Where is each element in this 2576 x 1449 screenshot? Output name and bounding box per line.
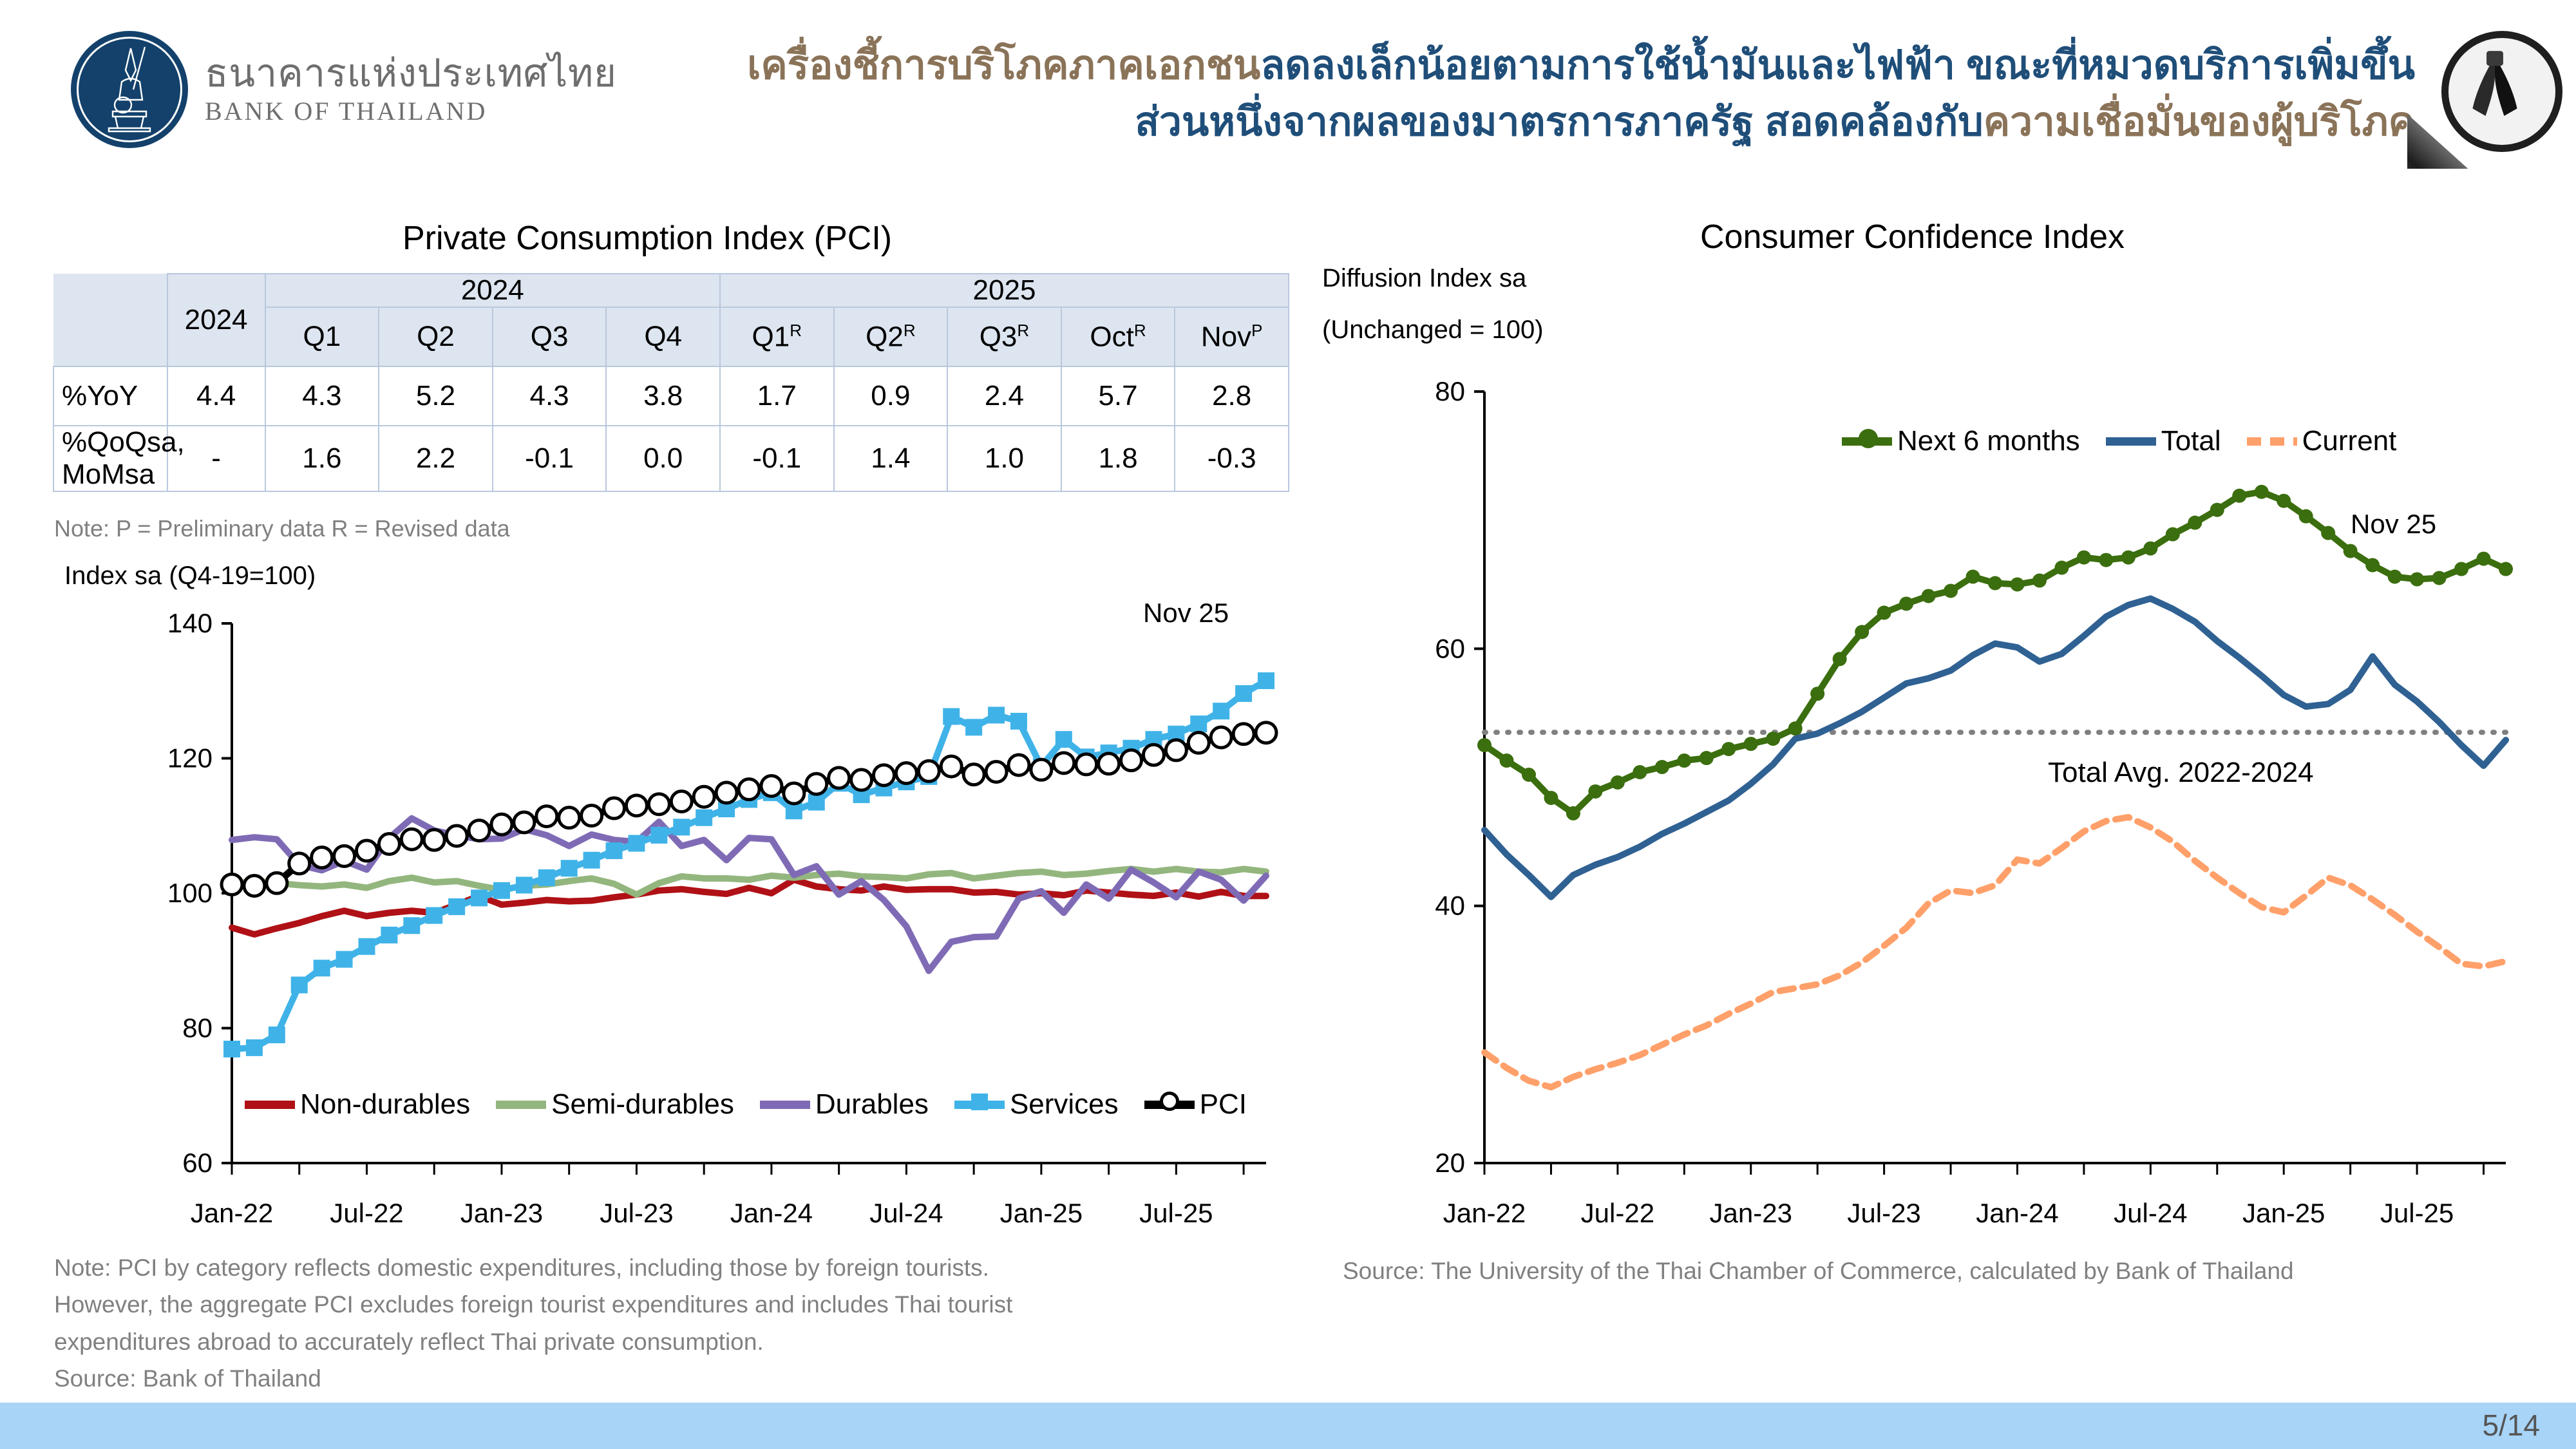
data-point xyxy=(1633,765,1647,779)
data-point xyxy=(2344,544,2358,558)
data-point xyxy=(1944,583,1958,598)
legend-label-durables: Durables xyxy=(815,1088,929,1121)
data-point xyxy=(1143,744,1164,765)
pci-source: Source: Bank of Thailand xyxy=(54,1360,1278,1397)
data-point xyxy=(356,840,377,861)
legend-label-services: Services xyxy=(1010,1088,1119,1121)
data-point xyxy=(986,761,1007,782)
table-row: %QoQsa, MoMsa-1.62.2-0.10.0-0.11.41.01.8… xyxy=(53,426,1289,491)
table-cell: 4.3 xyxy=(265,366,379,426)
data-point xyxy=(1499,753,1513,768)
data-point xyxy=(963,764,984,785)
data-point xyxy=(1788,721,1803,735)
data-point xyxy=(1076,754,1097,775)
data-point xyxy=(806,773,827,794)
data-point xyxy=(808,794,825,811)
legend-label-total: Total xyxy=(2161,425,2221,457)
data-point xyxy=(2321,526,2335,540)
data-point xyxy=(2210,503,2224,517)
series-line-services xyxy=(232,681,1266,1049)
data-point xyxy=(739,779,759,800)
bot-logo: ธนาคารแห่งประเทศไทย BANK OF THAILAND xyxy=(71,31,616,148)
pci-axis-caption: Index sa (Q4-19=100) xyxy=(64,562,316,591)
x-tick-label: Jul-23 xyxy=(1847,1198,1920,1228)
data-point xyxy=(1256,723,1276,743)
data-point xyxy=(1031,759,1052,780)
table-col-annual: 2024 xyxy=(167,274,265,366)
series-line-non-durables xyxy=(232,880,1266,934)
table-subheader-q4: Q4 xyxy=(606,307,720,366)
data-point xyxy=(2143,542,2157,556)
table-subheader-oct-R: OctR xyxy=(1061,307,1175,366)
data-point xyxy=(650,827,667,844)
data-point xyxy=(1190,715,1207,732)
table-row-label: %YoY xyxy=(53,366,167,426)
y-tick-label: 80 xyxy=(1435,376,1465,406)
series-line-next-6-months xyxy=(1484,492,2506,813)
legend-swatch-pci xyxy=(1144,1101,1195,1109)
data-point xyxy=(2099,553,2113,567)
legend-item-non-durables[interactable]: Non-durables xyxy=(245,1088,470,1121)
data-point xyxy=(2121,551,2136,565)
data-point xyxy=(2032,574,2047,588)
pci-panel-title: Private Consumption Index (PCI) xyxy=(402,219,892,258)
data-point xyxy=(267,873,287,893)
legend-label-pci: PCI xyxy=(1200,1088,1247,1121)
data-point xyxy=(1121,750,1142,771)
data-point xyxy=(896,763,916,784)
data-point xyxy=(2188,516,2202,530)
data-point xyxy=(312,847,332,867)
data-point xyxy=(291,976,308,993)
table-subheader-q2: Q2 xyxy=(379,307,493,366)
data-point xyxy=(401,829,422,849)
data-point xyxy=(1700,751,1714,765)
y-tick-label: 60 xyxy=(1435,633,1465,663)
y-tick-label: 120 xyxy=(167,743,213,773)
table-cell: 4.4 xyxy=(167,366,265,426)
pci-legend: Non-durables Semi-durables Durables Serv… xyxy=(245,1088,1273,1121)
data-point xyxy=(516,876,533,893)
data-point xyxy=(1922,589,1936,603)
data-point xyxy=(851,770,872,790)
headline-line1-tan: เครื่องชี้การบริโภคภาคเอกชน xyxy=(747,43,1260,88)
data-point xyxy=(1166,740,1186,761)
legend-swatch-current xyxy=(2247,437,2297,446)
data-point xyxy=(561,860,578,876)
table-subheader-q1-R: Q1R xyxy=(720,307,834,366)
table-cell: 3.8 xyxy=(606,366,720,426)
data-point xyxy=(1522,768,1536,782)
data-point xyxy=(493,882,510,899)
headline-line1-navy: ลดลงเล็กน้อยตามการใช้น้ำมันและไฟฟ้า ขณะท… xyxy=(1260,43,2415,88)
data-point xyxy=(1588,784,1602,799)
data-point xyxy=(2388,570,2402,584)
x-tick-label: Jan-25 xyxy=(1000,1198,1083,1228)
data-point xyxy=(2410,573,2424,587)
table-cell: -0.1 xyxy=(720,426,834,491)
data-point xyxy=(491,814,512,835)
data-point xyxy=(1655,760,1669,774)
pci-note-line-2: However, the aggregate PCI excludes fore… xyxy=(54,1286,1278,1323)
y-tick-label: 20 xyxy=(1435,1148,1465,1178)
data-point xyxy=(671,791,692,812)
data-point xyxy=(1477,738,1492,752)
data-point xyxy=(1544,791,1558,805)
table-cell: 5.2 xyxy=(379,366,493,426)
data-point xyxy=(2277,494,2291,508)
data-point xyxy=(2477,552,2491,566)
data-point xyxy=(1988,576,2002,591)
data-point xyxy=(829,768,849,788)
table-cell: 1.8 xyxy=(1061,426,1175,491)
table-subheader-q2-R: Q2R xyxy=(834,307,948,366)
data-point xyxy=(2255,485,2269,499)
brand-name-thai: ธนาคารแห่งประเทศไทย xyxy=(205,53,616,93)
data-point xyxy=(403,917,420,934)
data-point xyxy=(2299,509,2313,524)
pci-table: 2024 2024 2025 Q1Q2Q3Q4Q1RQ2RQ3ROctRNovP… xyxy=(53,273,1289,492)
data-point xyxy=(2232,489,2246,503)
data-point xyxy=(918,761,939,781)
data-point xyxy=(514,812,535,833)
data-point xyxy=(696,810,712,826)
footer-bar xyxy=(0,1403,2576,1449)
data-point xyxy=(1099,753,1119,774)
data-point xyxy=(379,834,399,855)
data-point xyxy=(1855,625,1869,639)
y-tick-label: 140 xyxy=(167,608,213,638)
data-point xyxy=(1899,596,1913,611)
x-tick-label: Jul-25 xyxy=(1139,1198,1213,1228)
legend-swatch-next-6-months xyxy=(1842,437,1892,446)
data-point xyxy=(1054,753,1074,773)
data-point xyxy=(1258,672,1274,689)
data-point xyxy=(424,829,444,850)
data-point xyxy=(626,795,647,816)
y-tick-label: 100 xyxy=(167,878,213,908)
data-point xyxy=(244,875,265,896)
table-subheader-nov-P: NovP xyxy=(1175,307,1289,366)
data-point xyxy=(1213,703,1229,719)
data-point xyxy=(2432,571,2447,585)
data-point xyxy=(582,806,602,826)
x-tick-label: Jul-23 xyxy=(600,1198,673,1228)
mourning-ribbon-icon xyxy=(2407,0,2576,169)
legend-item-semi-durables[interactable]: Semi-durables xyxy=(496,1088,734,1121)
x-tick-label: Jul-25 xyxy=(2380,1198,2454,1228)
data-point xyxy=(314,960,330,976)
pci-note-line-1: Note: PCI by category reflects domestic … xyxy=(54,1249,1278,1286)
data-point xyxy=(246,1039,263,1056)
x-tick-label: Jan-24 xyxy=(730,1198,813,1228)
legend-label-semi-durables: Semi-durables xyxy=(551,1088,734,1121)
data-point xyxy=(2010,578,2024,592)
series-line-total xyxy=(1484,598,2506,896)
table-group-2024: 2024 xyxy=(265,274,720,307)
data-point xyxy=(649,794,669,815)
legend-swatch-total xyxy=(2106,437,2156,446)
table-cell: 0.9 xyxy=(834,366,948,426)
data-point xyxy=(761,775,782,796)
x-tick-label: Jul-24 xyxy=(2114,1198,2187,1228)
legend-label-next-6-months: Next 6 months xyxy=(1897,425,2080,457)
data-point xyxy=(269,1027,285,1043)
y-tick-label: 60 xyxy=(182,1148,213,1178)
table-row-label: %QoQsa, MoMsa xyxy=(53,426,167,491)
table-cell: -0.1 xyxy=(493,426,607,491)
table-cell: 1.7 xyxy=(720,366,834,426)
table-subheader-q1: Q1 xyxy=(265,307,379,366)
data-point xyxy=(538,869,555,886)
legend-swatch-services xyxy=(954,1101,1005,1109)
cci-source: Source: The University of the Thai Chamb… xyxy=(1343,1253,2566,1289)
data-point xyxy=(1009,755,1029,775)
bot-seal-icon xyxy=(71,31,188,148)
x-tick-label: Jan-22 xyxy=(191,1198,273,1228)
legend-item-next-6-months[interactable]: Next 6 months xyxy=(1842,425,2080,457)
legend-swatch-semi-durables xyxy=(496,1101,546,1109)
y-tick-label: 80 xyxy=(182,1013,213,1043)
chart-l-svg: 6080100120140Jan-22Jul-22Jan-23Jul-23Jan… xyxy=(155,618,1275,1275)
data-point xyxy=(559,808,580,828)
data-point xyxy=(471,889,488,906)
data-point xyxy=(223,1041,240,1057)
data-point xyxy=(943,708,960,725)
y-tick-label: 40 xyxy=(1435,891,1465,921)
data-point xyxy=(358,938,375,955)
data-point xyxy=(965,719,982,735)
data-point xyxy=(604,798,625,819)
legend-item-services[interactable]: Services xyxy=(954,1088,1119,1121)
table-cell: 1.4 xyxy=(834,426,948,491)
table-row: %YoY4.44.35.24.33.81.70.92.45.72.8 xyxy=(53,366,1289,426)
x-tick-label: Jan-25 xyxy=(2242,1198,2325,1228)
table-cell: 2.8 xyxy=(1175,366,1289,426)
table-subheader-q3-R: Q3R xyxy=(947,307,1061,366)
x-tick-label: Jul-22 xyxy=(330,1198,403,1228)
legend-label-non-durables: Non-durables xyxy=(300,1088,470,1121)
x-tick-label: Jan-23 xyxy=(1710,1198,1792,1228)
cci-axis-caption-2: (Unchanged = 100) xyxy=(1322,316,1544,345)
pci-notes: Note: PCI by category reflects domestic … xyxy=(54,1249,1278,1397)
data-point xyxy=(628,835,645,851)
cci-axis-caption-1: Diffusion Index sa xyxy=(1322,264,1526,293)
data-point xyxy=(941,756,961,777)
x-tick-label: Jan-23 xyxy=(460,1198,543,1228)
data-point xyxy=(1188,732,1209,753)
x-tick-label: Jan-22 xyxy=(1443,1198,1526,1228)
headline-line2-tan: ความเชื่อมั่นของผู้บริโภค xyxy=(1984,100,2415,144)
data-point xyxy=(2054,561,2069,575)
data-point xyxy=(1235,685,1252,702)
series-line-current xyxy=(1484,817,2506,1087)
data-point xyxy=(1766,732,1780,746)
legend-item-pci[interactable]: PCI xyxy=(1144,1088,1247,1121)
data-point xyxy=(1833,652,1847,666)
brand-name-english: BANK OF THAILAND xyxy=(205,96,616,127)
table-cell: 1.6 xyxy=(265,426,379,491)
data-point xyxy=(716,782,737,803)
data-point xyxy=(694,786,714,807)
data-point xyxy=(784,783,804,804)
table-group-2025: 2025 xyxy=(720,274,1289,307)
chart-r-svg: 20406080Jan-22Jul-22Jan-23Jul-23Jan-24Ju… xyxy=(1407,386,2515,1275)
headline-line2-navy: ส่วนหนึ่งจากผลของมาตรการภาครัฐ สอดคล้องก… xyxy=(1135,100,1983,144)
table-cell: 2.2 xyxy=(379,426,493,491)
data-point xyxy=(2365,558,2380,573)
page-headline: เครื่องชี้การบริโภคภาคเอกชนลดลงเล็กน้อยต… xyxy=(676,37,2415,151)
table-subheader-q3: Q3 xyxy=(493,307,607,366)
table-cell: 4.3 xyxy=(493,366,607,426)
data-point xyxy=(336,951,353,968)
data-point xyxy=(1611,775,1625,790)
data-point xyxy=(606,842,623,859)
data-point xyxy=(469,820,489,841)
data-point xyxy=(446,826,467,846)
table-cell: 0.0 xyxy=(606,426,720,491)
data-point xyxy=(1721,742,1736,756)
data-point xyxy=(1966,570,1980,584)
data-point xyxy=(1211,727,1231,748)
legend-item-current[interactable]: Current xyxy=(2247,425,2397,457)
pci-chart: 6080100120140Jan-22Jul-22Jan-23Jul-23Jan… xyxy=(155,618,1275,1166)
table-footnote: Note: P = Preliminary data R = Revised d… xyxy=(54,515,510,542)
data-point xyxy=(222,874,242,895)
data-point xyxy=(2077,551,2091,565)
data-point xyxy=(289,853,310,874)
data-point xyxy=(1056,731,1072,748)
table-cell: 2.4 xyxy=(947,366,1061,426)
data-point xyxy=(1744,737,1758,751)
pci-note-line-3: expenditures abroad to accurately reflec… xyxy=(54,1323,1278,1360)
data-point xyxy=(1810,687,1824,701)
table-cell: -0.3 xyxy=(1175,426,1289,491)
legend-swatch-durables xyxy=(760,1101,810,1109)
data-point xyxy=(1233,724,1254,744)
legend-item-durables[interactable]: Durables xyxy=(760,1088,929,1121)
data-point xyxy=(2499,562,2513,576)
data-point xyxy=(1677,753,1691,768)
data-point xyxy=(1010,713,1027,730)
x-tick-label: Jul-24 xyxy=(869,1198,943,1228)
data-point xyxy=(873,765,894,786)
data-point xyxy=(2454,562,2468,576)
data-point xyxy=(673,819,690,835)
legend-item-total[interactable]: Total xyxy=(2106,425,2221,457)
cci-panel-title: Consumer Confidence Index xyxy=(1700,218,2125,256)
x-tick-label: Jan-24 xyxy=(1976,1198,2058,1228)
cci-chart: 20406080Jan-22Jul-22Jan-23Jul-23Jan-24Ju… xyxy=(1407,386,2515,1166)
x-tick-label: Jul-22 xyxy=(1581,1198,1654,1228)
table-cell: 5.7 xyxy=(1061,366,1175,426)
legend-label-current: Current xyxy=(2302,425,2397,457)
data-point xyxy=(1566,806,1580,820)
data-point xyxy=(334,846,355,866)
data-point xyxy=(1877,605,1891,620)
data-point xyxy=(536,806,557,827)
data-point xyxy=(583,852,600,869)
data-point xyxy=(426,907,442,924)
data-point xyxy=(988,706,1005,723)
legend-swatch-non-durables xyxy=(245,1101,295,1109)
data-point xyxy=(448,898,465,915)
table-cell: 1.0 xyxy=(947,426,1061,491)
data-point xyxy=(2166,527,2180,542)
cci-legend: Next 6 months Total Current xyxy=(1842,425,2422,457)
data-point xyxy=(381,927,397,943)
page-number: 5/14 xyxy=(2482,1408,2540,1443)
